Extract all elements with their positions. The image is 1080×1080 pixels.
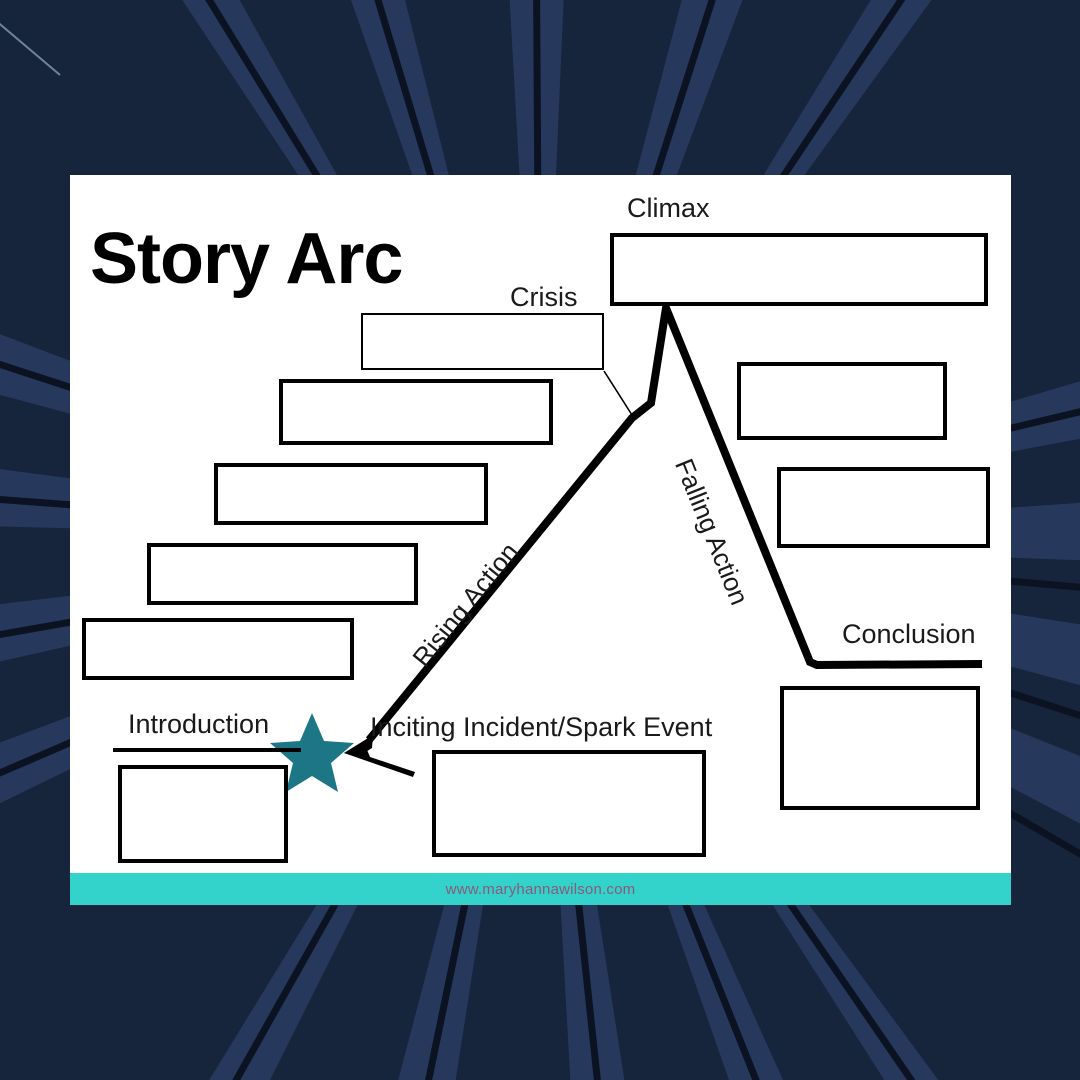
box-falling-2[interactable]: [777, 467, 990, 548]
box-inciting-incident[interactable]: [432, 750, 706, 857]
box-rising-4[interactable]: [279, 379, 553, 445]
box-rising-2[interactable]: [147, 543, 418, 605]
box-climax[interactable]: [610, 233, 988, 306]
page-title: Story Arc: [90, 223, 402, 295]
label-introduction: Introduction: [128, 711, 269, 738]
label-crisis: Crisis: [510, 284, 578, 311]
label-rising-action: Rising Action: [408, 538, 523, 671]
poster-canvas: Story Arc: [0, 0, 1080, 1080]
crisis-leader-line: [604, 371, 632, 415]
footer-url[interactable]: www.maryhannawilson.com: [70, 873, 1011, 905]
footer-band: www.maryhannawilson.com: [70, 873, 1011, 905]
label-falling-action: Falling Action: [671, 455, 753, 608]
box-rising-3[interactable]: [214, 463, 488, 525]
label-conclusion: Conclusion: [842, 621, 976, 648]
label-inciting-incident: Inciting Incident/Spark Event: [370, 714, 712, 741]
worksheet-card: Story Arc: [70, 175, 1011, 905]
introduction-baseline: [113, 748, 301, 752]
box-crisis[interactable]: [361, 313, 604, 370]
box-falling-1[interactable]: [737, 362, 947, 440]
box-rising-1[interactable]: [82, 618, 354, 680]
box-introduction[interactable]: [118, 765, 288, 863]
label-climax: Climax: [627, 195, 710, 222]
box-conclusion[interactable]: [780, 686, 980, 810]
